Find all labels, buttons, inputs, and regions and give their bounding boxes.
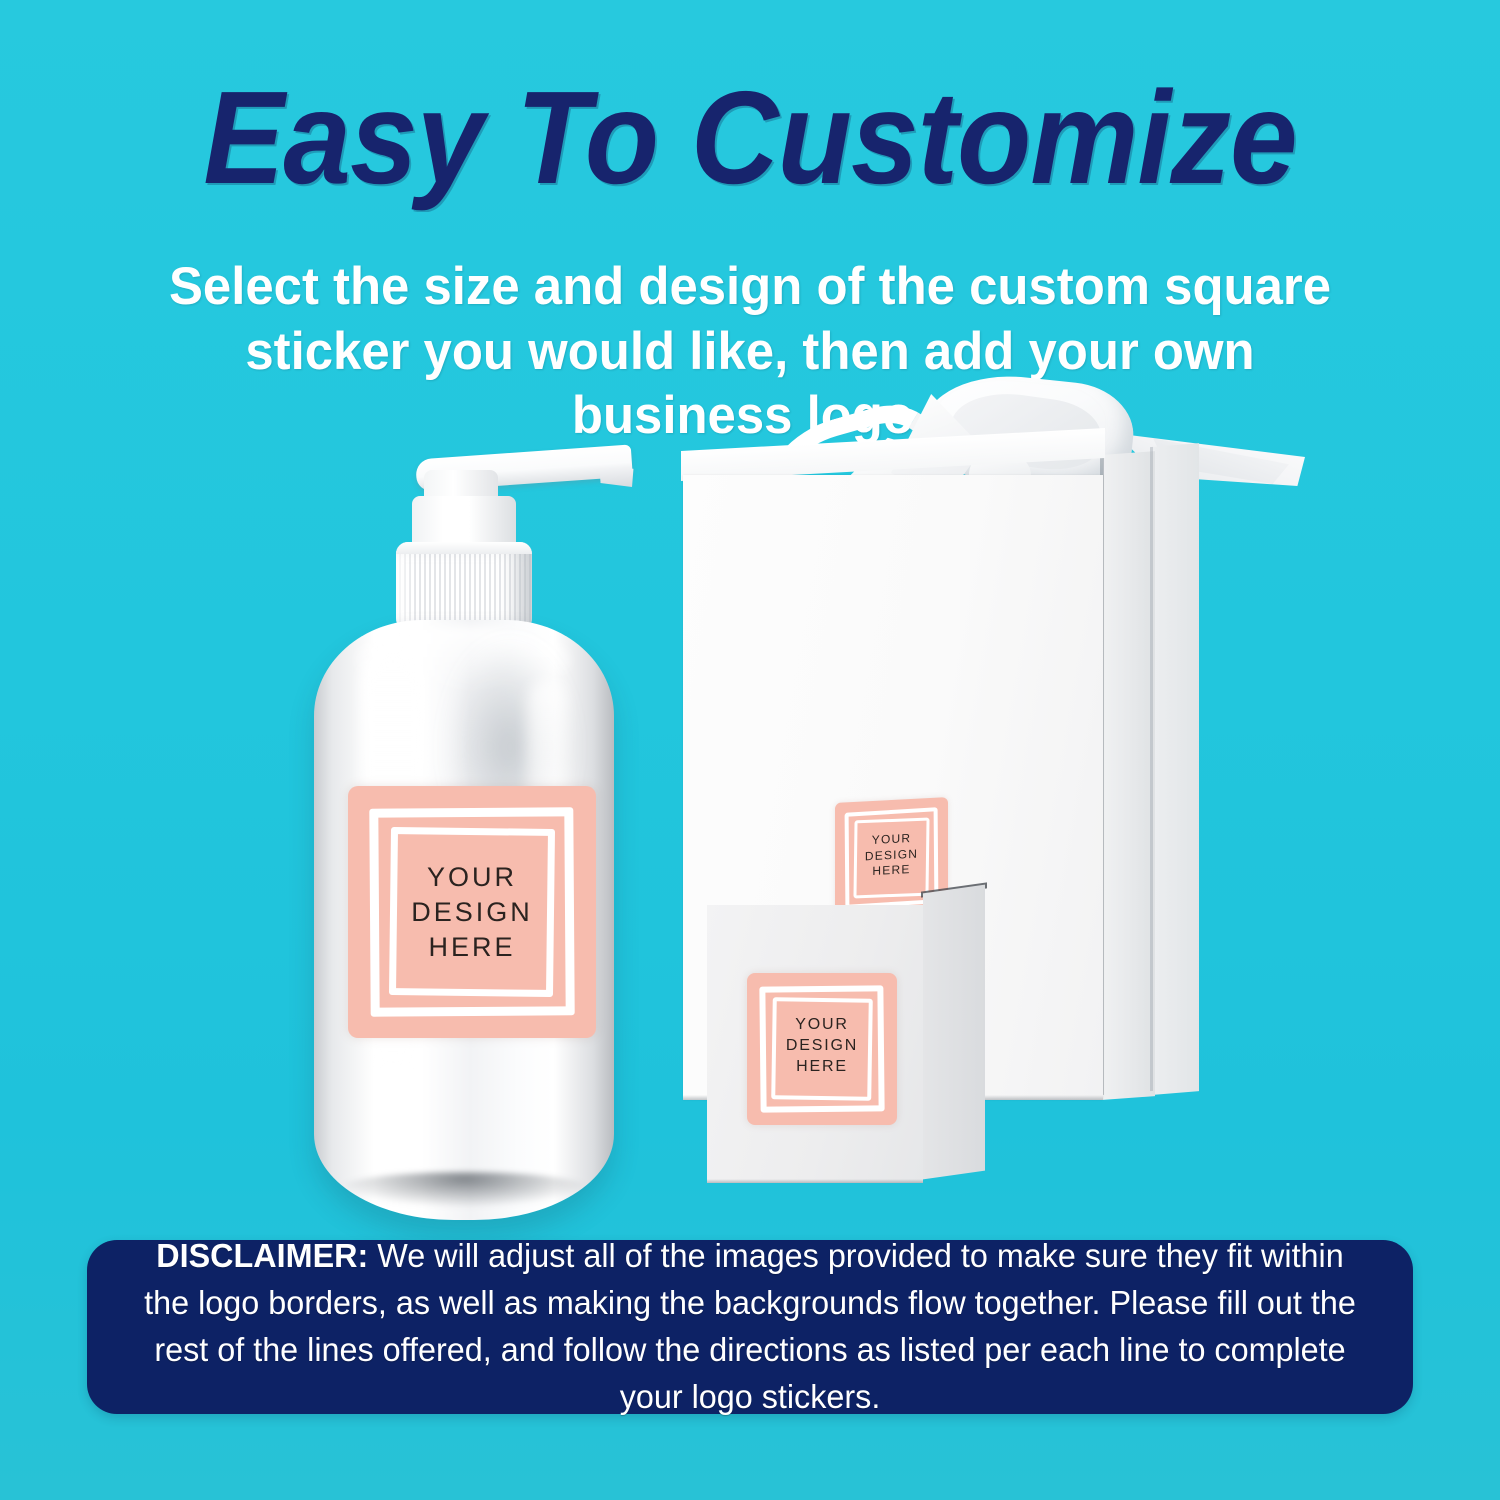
sticker-label-text: YOUR DESIGN HERE [835,829,948,882]
gift-box-lid-seam-back [1150,447,1153,1091]
disclaimer-banner: DISCLAIMER: We will adjust all of the im… [87,1240,1413,1414]
small-box-side-panel [923,885,985,1180]
sticker-on-bottle: YOUR DESIGN HERE [348,786,596,1038]
disclaimer-label: DISCLAIMER: [156,1237,368,1274]
product-scene: YOUR DESIGN HERE YOUR DESIGN HERE [0,390,1500,1240]
gift-box-side-panel [1103,451,1155,1100]
disclaimer-text: DISCLAIMER: We will adjust all of the im… [100,1233,1399,1420]
sticker-on-small-box: YOUR DESIGN HERE [747,973,897,1125]
pump-bottle-product: YOUR DESIGN HERE [300,430,630,1240]
gift-box-side-panel-back [1153,443,1199,1095]
sticker-label-text: YOUR DESIGN HERE [747,1015,897,1077]
small-box-product: YOUR DESIGN HERE [707,895,992,1185]
bottle-base-shadow [336,1172,592,1208]
page-title: Easy To Customize [60,72,1440,204]
promo-graphic: Easy To Customize Select the size and de… [0,0,1500,1500]
sticker-label-text: YOUR DESIGN HERE [348,860,596,965]
